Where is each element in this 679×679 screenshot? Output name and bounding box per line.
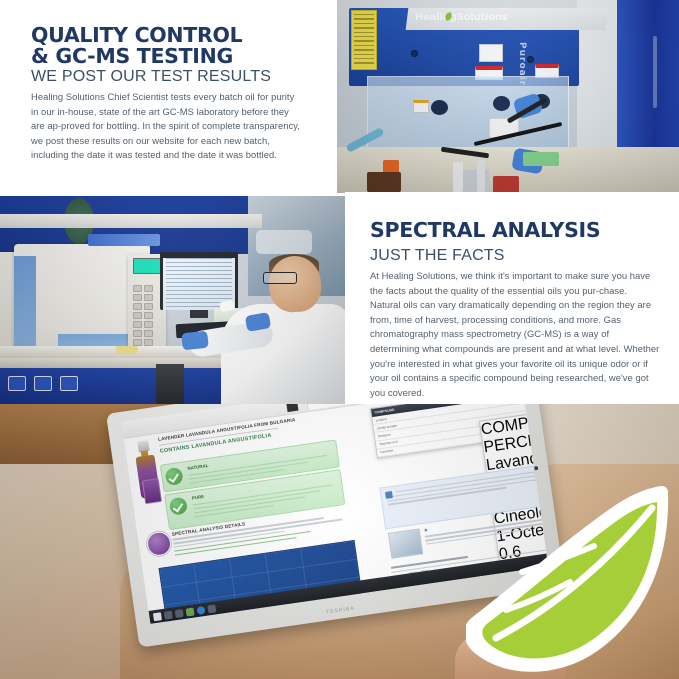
overhead-shelf (0, 214, 262, 228)
article-thumbnail (388, 528, 423, 558)
lab-bottle (477, 160, 485, 192)
bottle-label (142, 478, 162, 504)
taskbar-icon[interactable] (186, 607, 195, 616)
quality-control-title-line2: & GC-MS TESTING (31, 46, 321, 67)
quality-control-body: Healing Solutions Chief Scientist tests … (31, 90, 303, 163)
bottle-body (135, 455, 160, 499)
quality-control-text-block: QUALITY CONTROL & GC-MS TESTING WE POST … (0, 0, 337, 196)
browser-icon[interactable] (196, 605, 205, 614)
hood-glove-port (431, 100, 448, 115)
computer-tower (156, 364, 184, 404)
safety-glasses-icon (263, 272, 297, 284)
hood-glove-port (493, 96, 510, 111)
lab-bottle (453, 162, 463, 192)
photo-gcms-instrument (0, 196, 345, 404)
fume-hood-brand-label: HealingSolutions (415, 12, 508, 23)
taskbar-icon[interactable] (175, 609, 184, 618)
fume-hood-body: HealingSolutions Puroair (349, 8, 579, 86)
red-cap-bottle (493, 176, 519, 193)
green-sample-tray (523, 152, 559, 166)
blue-glove (181, 331, 209, 351)
hazard-label (351, 10, 377, 70)
certification-seal-icon (145, 530, 172, 557)
taskbar-icon[interactable] (207, 604, 216, 613)
amber-bottle (367, 172, 401, 192)
badge-label: PURE (192, 494, 205, 501)
hood-caution-sticker (413, 100, 429, 113)
check-icon (164, 467, 183, 486)
quality-control-title-line1: QUALITY CONTROL (31, 25, 321, 46)
quality-control-subtitle: WE POST OUR TEST RESULTS (31, 68, 271, 86)
report-left-column: LAVENDER LAVANDULA ANGUSTIFOLIA FROM BUL… (130, 406, 383, 601)
spectral-analysis-text-block: SPECTRAL ANALYSIS JUST THE FACTS At Heal… (345, 192, 679, 410)
start-button-icon[interactable] (153, 612, 162, 621)
hood-knob (527, 56, 534, 63)
wall-socket (8, 376, 26, 391)
lab-coat (221, 304, 345, 404)
leaf-logo (466, 486, 672, 674)
spectral-analysis-subtitle: JUST THE FACTS (370, 247, 505, 265)
wall-socket (34, 376, 52, 391)
browser-menu-icon[interactable] (286, 404, 299, 412)
spectral-analysis-title: SPECTRAL ANALYSIS (370, 220, 600, 241)
info-icon (385, 491, 393, 499)
lab-blue-column (617, 0, 679, 168)
autosampler-tray (88, 234, 160, 246)
gcms-keypad[interactable] (132, 284, 162, 346)
lab-bottle (463, 170, 489, 192)
fume-hood-sash-glass (367, 76, 569, 156)
spectral-analysis-body: At Healing Solutions, we think it's impo… (370, 269, 660, 400)
photo-fume-hood-lab: HealingSolutions Puroair (337, 0, 679, 193)
product-bottle-image (132, 439, 162, 500)
taskbar-icon[interactable] (164, 610, 173, 619)
device-brand-logo: TOSHIBA (325, 606, 355, 616)
monitor-stand (190, 310, 208, 318)
badge-label: NATURAL (187, 463, 208, 471)
sticky-note (116, 346, 138, 354)
wall-socket (60, 376, 78, 391)
hood-sticker (479, 44, 503, 62)
quality-control-title: QUALITY CONTROL & GC-MS TESTING (31, 25, 321, 68)
check-icon (169, 496, 188, 515)
hood-knob (411, 50, 418, 57)
gcms-lcd-display (133, 258, 163, 274)
infographic-page: QUALITY CONTROL & GC-MS TESTING WE POST … (0, 0, 679, 679)
